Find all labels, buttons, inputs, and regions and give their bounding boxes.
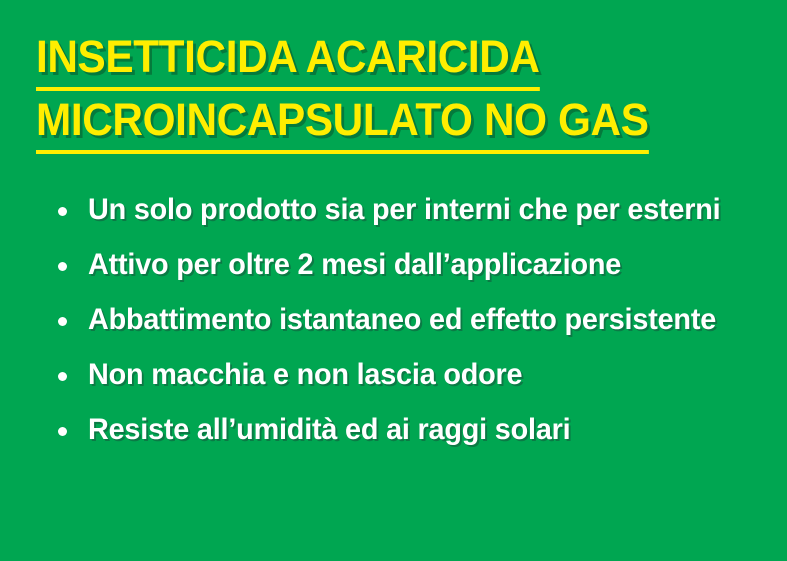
- bullet-dot-icon: [58, 207, 67, 216]
- bullet-dot-icon: [58, 427, 67, 436]
- title-line-1: INSETTICIDA ACARICIDA: [36, 28, 756, 91]
- list-item: Un solo prodotto sia per interni che per…: [52, 186, 772, 234]
- title-line-2: MICROINCAPSULATO NO GAS: [36, 91, 756, 154]
- list-item-label: Un solo prodotto sia per interni che per…: [88, 186, 720, 234]
- list-item-label: Resiste all’umidità ed ai raggi solari: [88, 406, 570, 454]
- title-line-2-text: MICROINCAPSULATO NO GAS: [36, 91, 649, 154]
- list-item-label: Attivo per oltre 2 mesi dall’applicazion…: [88, 241, 621, 289]
- list-item-label: Non macchia e non lascia odore: [88, 351, 522, 399]
- list-item: Resiste all’umidità ed ai raggi solari: [52, 406, 772, 454]
- slide-title: INSETTICIDA ACARICIDA MICROINCAPSULATO N…: [36, 28, 756, 154]
- bullet-dot-icon: [58, 317, 67, 326]
- list-item: Non macchia e non lascia odore: [52, 351, 772, 399]
- bullet-dot-icon: [58, 262, 67, 271]
- title-line-1-text: INSETTICIDA ACARICIDA: [36, 28, 540, 91]
- list-item: Abbattimento istantaneo ed effetto persi…: [52, 296, 772, 344]
- bullet-dot-icon: [58, 372, 67, 381]
- list-item: Attivo per oltre 2 mesi dall’applicazion…: [52, 241, 772, 289]
- slide-canvas: INSETTICIDA ACARICIDA MICROINCAPSULATO N…: [0, 0, 787, 561]
- feature-bullet-list: Un solo prodotto sia per interni che per…: [52, 186, 772, 461]
- list-item-label: Abbattimento istantaneo ed effetto persi…: [88, 296, 716, 344]
